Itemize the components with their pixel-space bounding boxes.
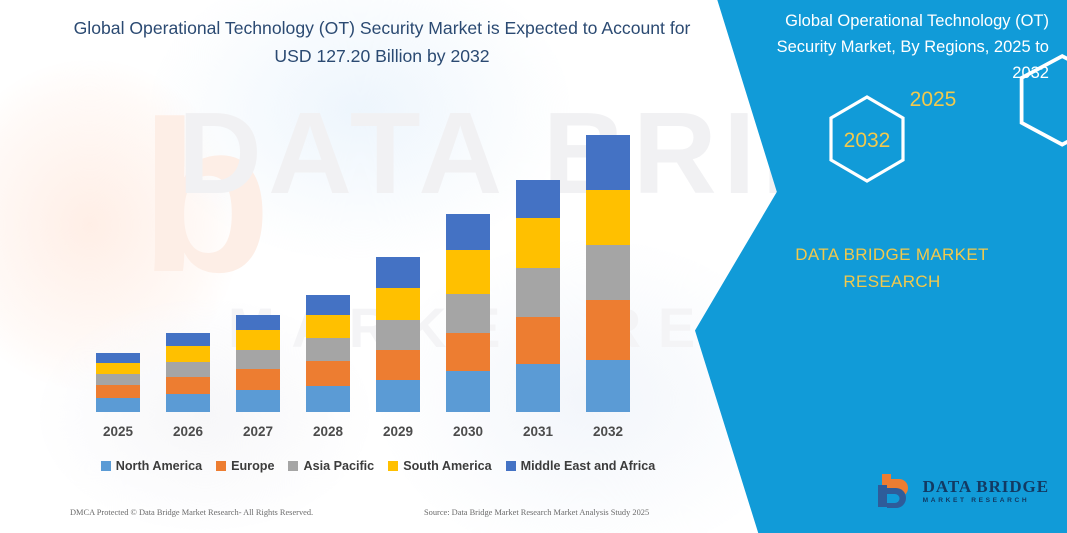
bar-segment-asia-pacific-2031: [516, 268, 560, 317]
bar-column-2030: [446, 214, 490, 412]
stacked-bar-chart: [78, 110, 678, 412]
bar-column-2026: [166, 333, 210, 412]
bar-segment-north-america-2027: [236, 390, 280, 412]
chart-x-axis-labels: 20252026202720282029203020312032: [78, 424, 678, 444]
right-panel-title: Global Operational Technology (OT) Secur…: [741, 8, 1049, 86]
infographic-canvas: b DATA BRIDGE MARKET RESEARCH Global Ope…: [0, 0, 1067, 533]
bar-column-2031: [516, 180, 560, 412]
legend-item-europe[interactable]: Europe: [216, 459, 274, 473]
chart-plot-area: [78, 112, 678, 412]
x-axis-label-2029: 2029: [368, 424, 428, 439]
legend-item-south-america[interactable]: South America: [388, 459, 491, 473]
bar-segment-north-america-2029: [376, 380, 420, 412]
bar-segment-europe-2026: [166, 377, 210, 394]
legend-swatch-icon: [216, 461, 226, 471]
bar-segment-europe-2027: [236, 369, 280, 390]
bar-segment-south-america-2029: [376, 288, 420, 320]
logo-sub-text: MARKET RESEARCH: [923, 498, 1049, 505]
legend-swatch-icon: [288, 461, 298, 471]
x-axis-label-2027: 2027: [228, 424, 288, 439]
bar-segment-middle-east-and-africa-2026: [166, 333, 210, 346]
bar-segment-asia-pacific-2032: [586, 245, 630, 300]
bar-segment-asia-pacific-2029: [376, 320, 420, 350]
x-axis-label-2026: 2026: [158, 424, 218, 439]
bar-segment-north-america-2032: [586, 360, 630, 412]
logo-mark-icon: [872, 471, 914, 511]
legend-label: Middle East and Africa: [521, 459, 656, 473]
bar-segment-middle-east-and-africa-2027: [236, 315, 280, 330]
page-title: Global Operational Technology (OT) Secur…: [72, 14, 692, 70]
legend-label: Europe: [231, 459, 274, 473]
bar-segment-europe-2032: [586, 300, 630, 360]
bar-segment-north-america-2030: [446, 371, 490, 412]
bar-segment-middle-east-and-africa-2029: [376, 257, 420, 288]
bar-segment-north-america-2031: [516, 364, 560, 412]
panel-brand-text: DATA BRIDGE MARKET RESEARCH: [757, 241, 1027, 295]
legend-label: Asia Pacific: [303, 459, 374, 473]
bar-segment-asia-pacific-2027: [236, 350, 280, 369]
bar-segment-middle-east-and-africa-2030: [446, 214, 490, 250]
bar-segment-south-america-2028: [306, 315, 350, 338]
bar-segment-middle-east-and-africa-2032: [586, 135, 630, 190]
x-axis-label-2030: 2030: [438, 424, 498, 439]
bar-segment-south-america-2031: [516, 218, 560, 268]
panel-brand-line-2: RESEARCH: [757, 268, 1027, 295]
bar-segment-europe-2025: [96, 385, 140, 398]
bar-segment-middle-east-and-africa-2028: [306, 295, 350, 315]
bar-segment-europe-2029: [376, 350, 420, 380]
bar-segment-south-america-2026: [166, 346, 210, 362]
panel-brand-line-1: DATA BRIDGE MARKET: [757, 241, 1027, 268]
bar-segment-europe-2030: [446, 333, 490, 371]
legend-swatch-icon: [388, 461, 398, 471]
bar-column-2027: [236, 315, 280, 412]
bar-segment-north-america-2025: [96, 398, 140, 412]
bar-segment-middle-east-and-africa-2025: [96, 353, 140, 363]
bar-column-2029: [376, 257, 420, 412]
bar-segment-asia-pacific-2026: [166, 362, 210, 377]
x-axis-label-2025: 2025: [88, 424, 148, 439]
bar-segment-asia-pacific-2025: [96, 374, 140, 385]
x-axis-label-2032: 2032: [578, 424, 638, 439]
bar-segment-south-america-2025: [96, 363, 140, 374]
bar-segment-south-america-2032: [586, 190, 630, 245]
legend-item-middle-east-and-africa[interactable]: Middle East and Africa: [506, 459, 656, 473]
x-axis-label-2028: 2028: [298, 424, 358, 439]
legend-item-north-america[interactable]: North America: [101, 459, 202, 473]
bar-segment-south-america-2027: [236, 330, 280, 350]
logo-wordmark: DATA BRIDGE MARKET RESEARCH: [923, 478, 1049, 505]
footer-source: Source: Data Bridge Market Research Mark…: [424, 508, 649, 517]
bar-segment-middle-east-and-africa-2031: [516, 180, 560, 218]
legend-item-asia-pacific[interactable]: Asia Pacific: [288, 459, 374, 473]
bar-segment-north-america-2028: [306, 386, 350, 412]
footer-copyright: DMCA Protected © Data Bridge Market Rese…: [70, 508, 313, 517]
bar-segment-asia-pacific-2030: [446, 294, 490, 333]
legend-swatch-icon: [506, 461, 516, 471]
bar-column-2032: [586, 135, 630, 412]
company-logo: DATA BRIDGE MARKET RESEARCH: [872, 471, 1049, 511]
chart-legend: North AmericaEuropeAsia PacificSouth Ame…: [78, 455, 678, 477]
bar-column-2025: [96, 353, 140, 412]
bar-segment-north-america-2026: [166, 394, 210, 412]
legend-label: North America: [116, 459, 202, 473]
x-axis-label-2031: 2031: [508, 424, 568, 439]
bar-segment-south-america-2030: [446, 250, 490, 294]
bar-segment-asia-pacific-2028: [306, 338, 350, 361]
logo-main-text: DATA BRIDGE: [923, 478, 1049, 495]
bar-segment-europe-2028: [306, 361, 350, 386]
bar-column-2028: [306, 295, 350, 412]
bar-segment-europe-2031: [516, 317, 560, 364]
legend-swatch-icon: [101, 461, 111, 471]
legend-label: South America: [403, 459, 491, 473]
